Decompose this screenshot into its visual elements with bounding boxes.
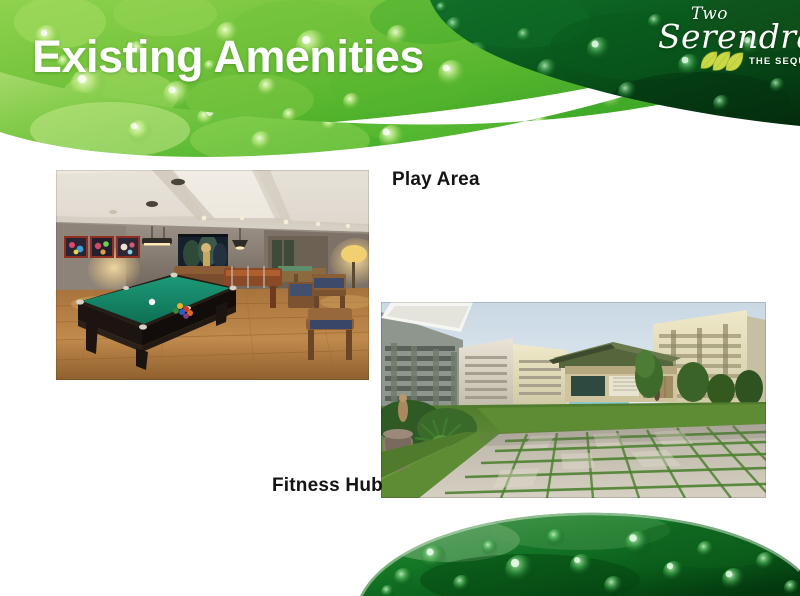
page-title: Existing Amenities [32,33,424,80]
caption-fitness-hub: Fitness Hub [272,475,383,497]
logo-subtitle: THE SEQUOIA [749,56,800,67]
three-leaves-icon [697,48,747,76]
photo-fitness-hub[interactable] [381,302,766,498]
brand-logo: Two Serendra THE SEQUOIA [655,4,797,78]
slide-canvas: Existing Amenities Two Serendra THE SEQU… [0,0,800,596]
bottom-decor-arc [330,500,800,596]
caption-play-area: Play Area [392,169,480,191]
photo-play-area[interactable] [56,170,369,380]
